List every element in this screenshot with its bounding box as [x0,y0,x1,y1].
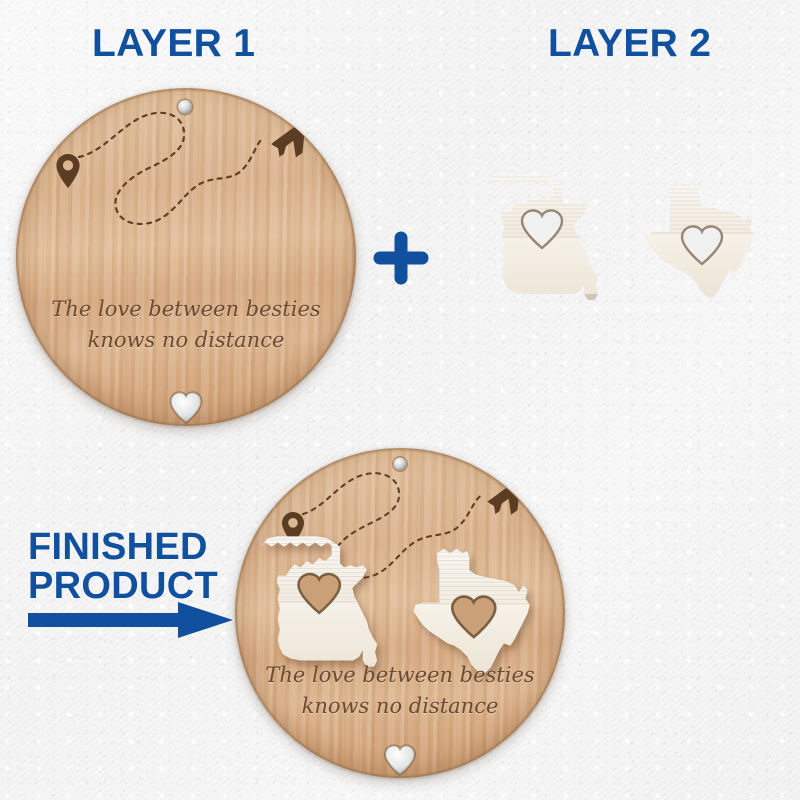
layer-1-wood-disc: The love between besties knows no distan… [16,88,356,426]
layer-1-engravings [16,88,356,426]
finished-product-title-line1: FINISHED [28,528,218,567]
finished-texas-piece [407,538,547,678]
layer-1-title: LAYER 1 [92,22,255,66]
plus-icon [373,230,429,286]
finished-product-title: FINISHED PRODUCT [28,528,218,606]
hanging-hole [177,99,194,116]
heart-cutout-bottom [171,392,202,423]
airplane-icon [267,111,333,164]
finished-heart-cutout-bottom [385,745,415,775]
layer-2-missouri-piece [480,168,620,306]
finished-airplane-icon [483,470,546,521]
finished-hanging-hole [392,456,408,472]
layer-2-texas-piece [640,172,770,302]
right-arrow-icon [28,600,233,640]
finished-product-wood-disc: The love between besties knows no distan… [235,448,565,778]
map-pin-icon [56,154,79,188]
layer-2-title: LAYER 2 [548,22,711,66]
dotted-flight-path [79,113,264,224]
finished-missouri-piece [255,530,400,673]
